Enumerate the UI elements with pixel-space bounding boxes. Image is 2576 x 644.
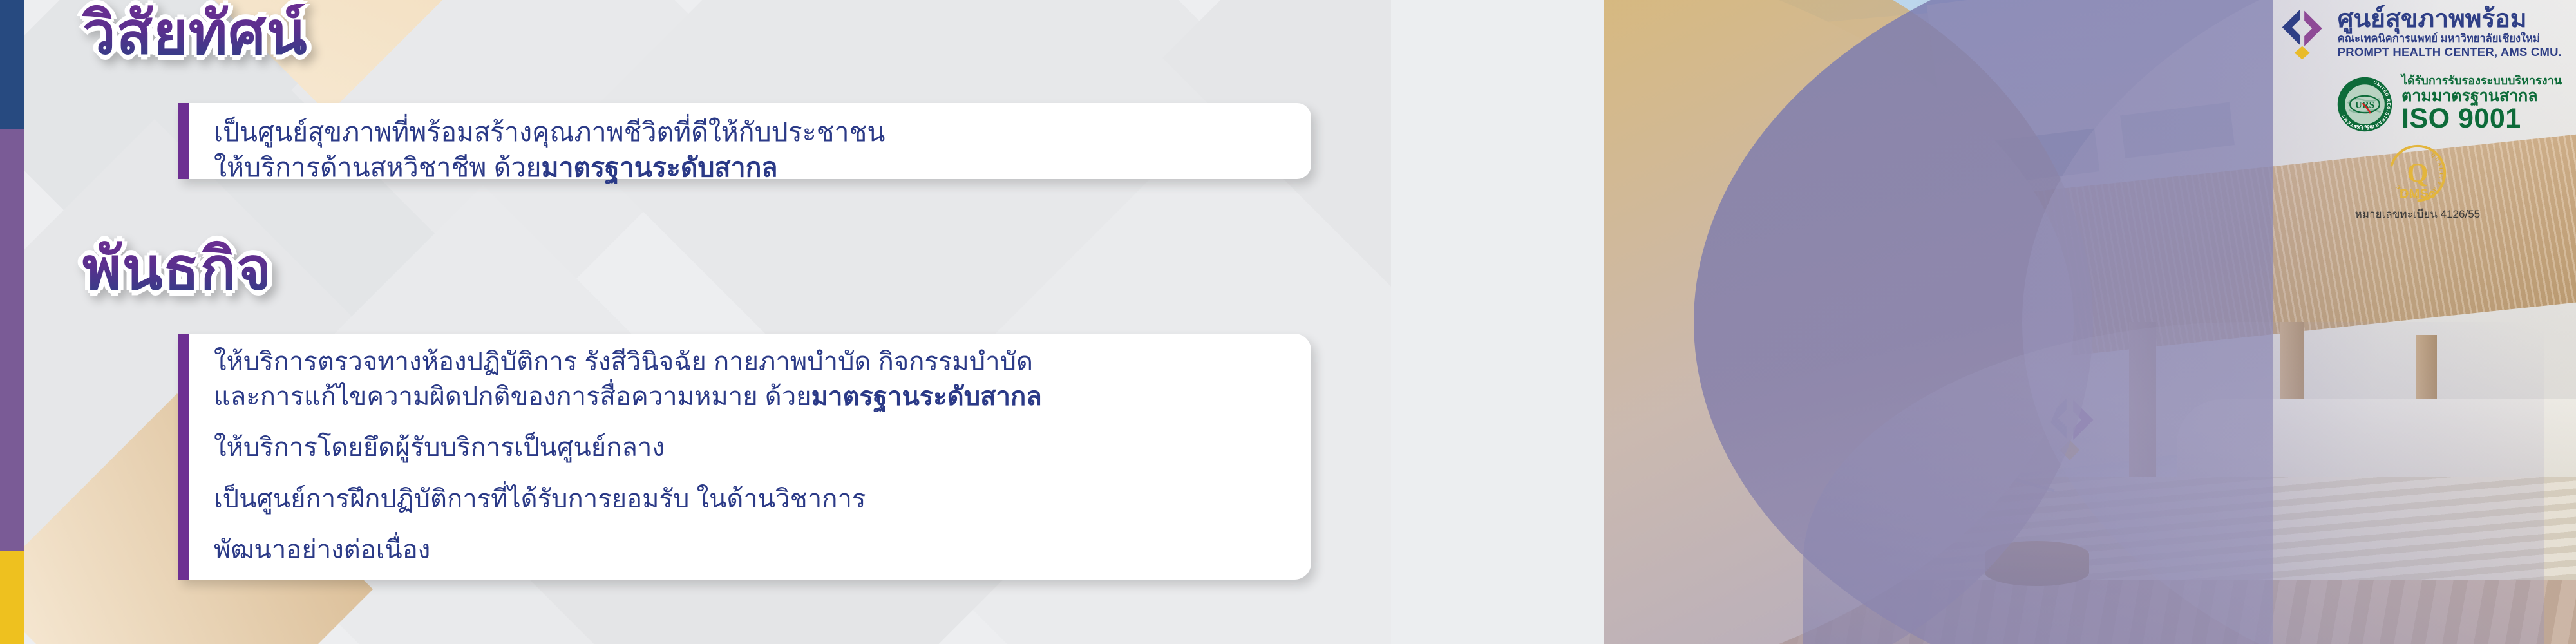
mission-item: เป็นศูนย์การฝึกปฏิบัติการที่ได้รับการยอม… [214, 482, 1275, 517]
mission-card: ให้บริการตรวจทางห้องปฏิบัติการ รังสีวินิ… [178, 334, 1311, 580]
iso-certification-row: URS UNITED REGISTRAR OF SYSTEMS ISO 9001… [2336, 75, 2562, 133]
vision-line: ให้บริการด้านสหวิชาชีพ ด้วยมาตรฐานระดับส… [214, 150, 1275, 185]
dmsc-certification-row: QUALITY ASSURANCE Q DMSc หมายเลขทะเบียน … [2273, 142, 2562, 223]
identity-block: ศูนย์สุขภาพพร้อม คณะเทคนิคการแพทย์ มหาวิ… [2273, 5, 2562, 223]
svg-text:DMSc: DMSc [2400, 187, 2436, 202]
brand-faculty-thai: คณะเทคนิคการแพทย์ มหาวิทยาลัยเชียงใหม่ [2338, 32, 2562, 45]
mission-heading: พันธกิจ [82, 240, 272, 299]
spine-segment-purple [0, 129, 24, 551]
brand-name-english: PROMPT HEALTH CENTER, AMS CMU. [2338, 45, 2562, 59]
iso-line-1: ได้รับการรับรองระบบบริหารงาน [2401, 75, 2562, 87]
vision-card-body: เป็นศูนย์สุขภาพที่พร้อมสร้างคุณภาพชีวิตท… [178, 103, 1311, 197]
urs-iso-seal-icon: URS UNITED REGISTRAR OF SYSTEMS ISO 9001 [2336, 76, 2393, 133]
brand-name-thai: ศูนย์สุขภาพพร้อม [2338, 6, 2562, 32]
mission-item: ให้บริการโดยยึดผู้รับบริการเป็นศูนย์กลาง [214, 431, 1275, 466]
vision-card: เป็นศูนย์สุขภาพที่พร้อมสร้างคุณภาพชีวิตท… [178, 103, 1311, 179]
left-color-spine [0, 0, 24, 644]
spacer [214, 414, 1275, 431]
brand-lockup: ศูนย์สุขภาพพร้อม คณะเทคนิคการแพทย์ มหาวิ… [2273, 5, 2562, 61]
dmsc-quality-assurance-seal-icon: QUALITY ASSURANCE Q DMSc [2387, 142, 2448, 204]
prompt-health-center-logo-icon [2273, 5, 2329, 61]
svg-text:Q: Q [2407, 158, 2428, 189]
iso-line-2: ตามมาตรฐานสากล [2401, 87, 2562, 105]
spine-segment-gold [0, 551, 24, 644]
iso-text-block: ได้รับการรับรองระบบบริหารงาน ตามมาตรฐานส… [2401, 75, 2562, 133]
vision-mission-banner: วิสัยทัศน์ เป็นศูนย์สุขภาพที่พร้อมสร้างค… [0, 0, 2576, 644]
dmsc-registration-number: หมายเลขทะเบียน 4126/55 [2355, 205, 2480, 223]
spacer [214, 516, 1275, 533]
spacer [214, 466, 1275, 482]
mission-item: ให้บริการตรวจทางห้องปฏิบัติการ รังสีวินิ… [214, 345, 1275, 380]
mission-item: พัฒนาอย่างต่อเนื่อง [214, 533, 1275, 568]
spine-segment-blue [0, 0, 24, 129]
brand-text-block: ศูนย์สุขภาพพร้อม คณะเทคนิคการแพทย์ มหาวิ… [2338, 6, 2562, 59]
mission-item-emphasis: มาตรฐานระดับสากล [811, 383, 1042, 411]
vision-line-emphasis: มาตรฐานระดับสากล [541, 153, 777, 182]
svg-text:ISO 9001: ISO 9001 [2354, 124, 2375, 129]
iso-standard-number: ISO 9001 [2401, 105, 2562, 133]
vision-line: เป็นศูนย์สุขภาพที่พร้อมสร้างคุณภาพชีวิตท… [214, 115, 1275, 150]
mission-card-body: ให้บริการตรวจทางห้องปฏิบัติการ รังสีวินิ… [178, 334, 1311, 580]
vision-heading: วิสัยทัศน์ [82, 4, 308, 63]
mission-item: และการแก้ไขความผิดปกติของการสื่อความหมาย… [214, 380, 1275, 415]
